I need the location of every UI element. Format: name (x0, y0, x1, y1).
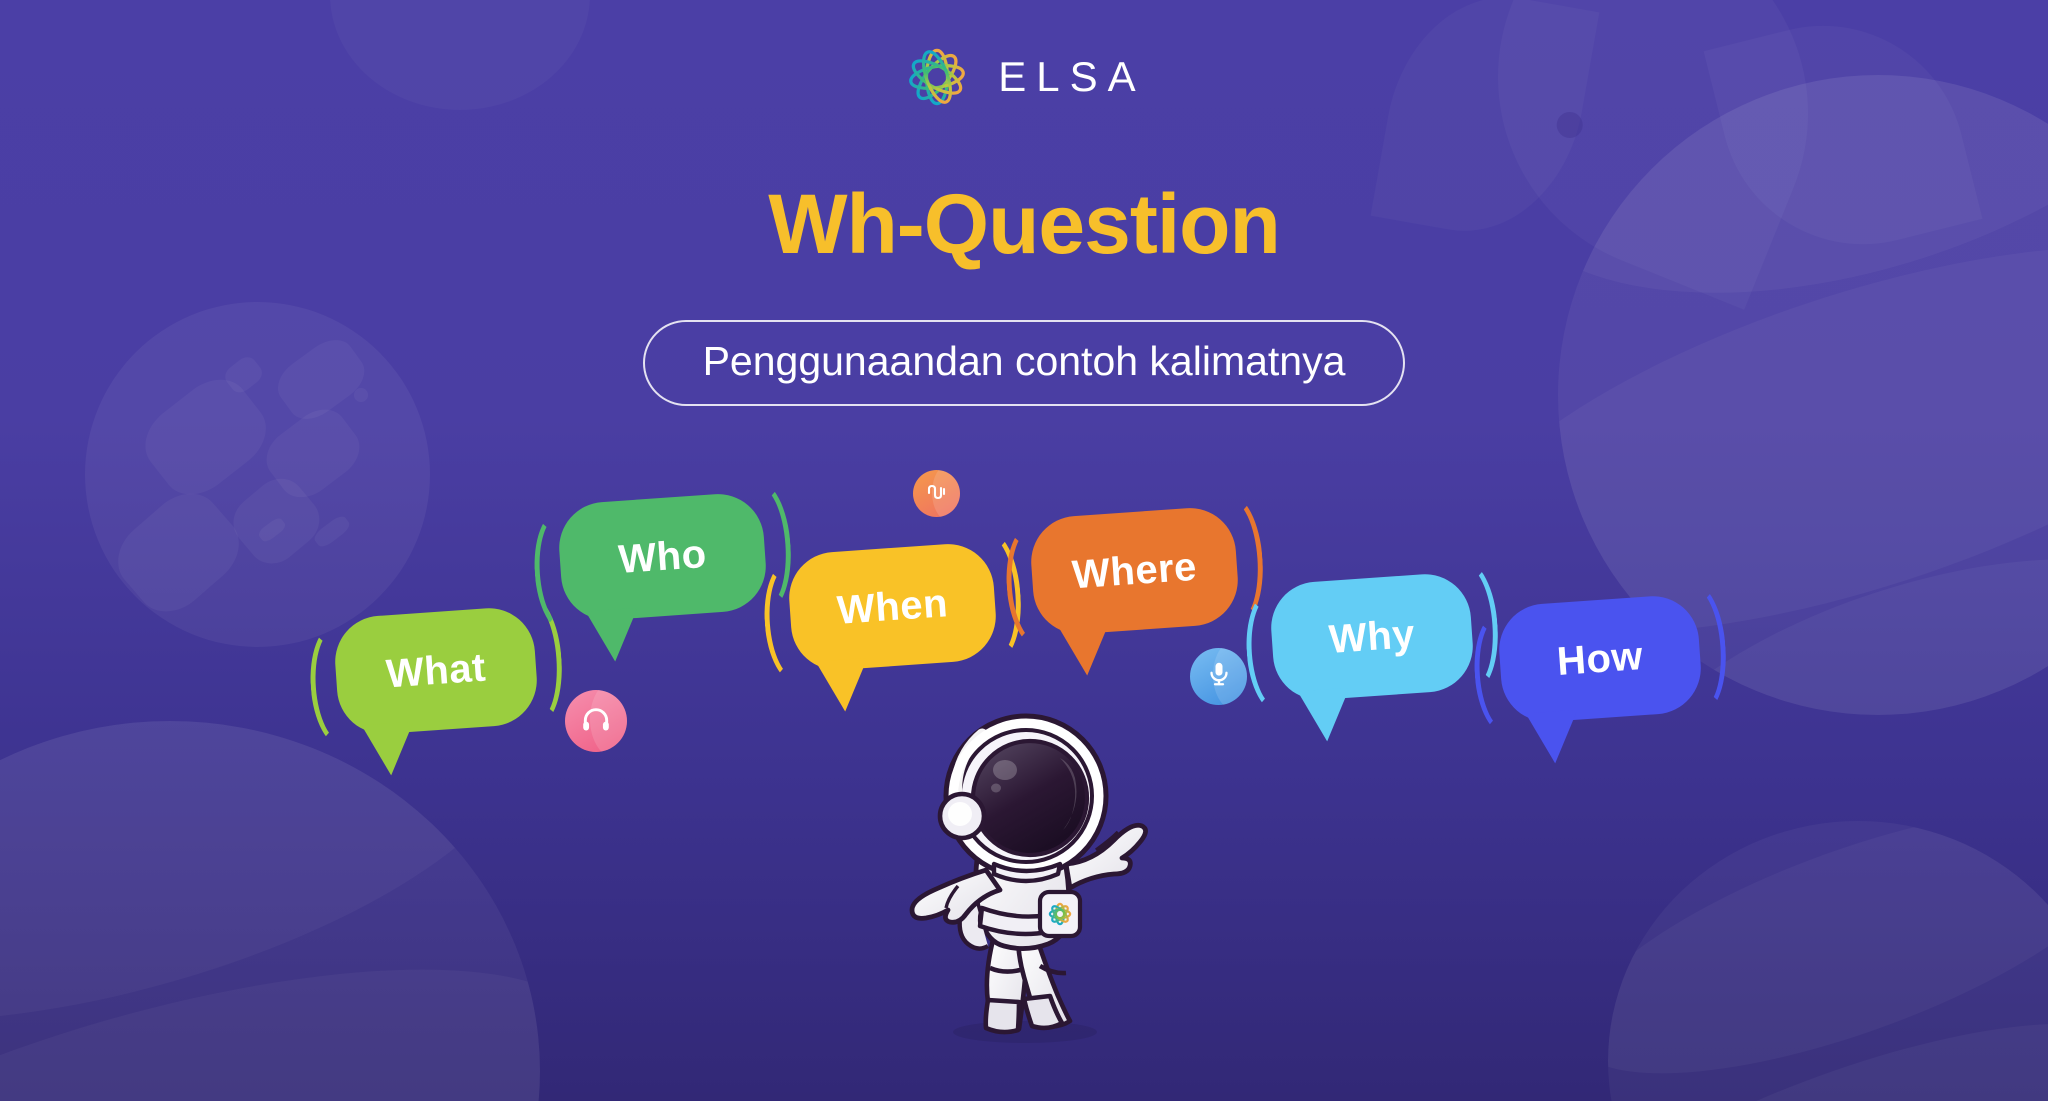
bubble-tail (586, 608, 642, 664)
astronaut-shadow (953, 1021, 1097, 1043)
headphone-badge[interactable] (565, 690, 627, 752)
bubble-tail (362, 722, 418, 778)
bubble-echo-right (1202, 493, 1267, 627)
bubble-label: When (836, 581, 950, 634)
bubble-echo-right (1665, 581, 1730, 715)
bubble-label: How (1556, 634, 1645, 685)
bubble-tail (1058, 622, 1114, 678)
bubble-tail (1526, 710, 1582, 766)
speech-bubble-who[interactable]: Who (556, 491, 769, 623)
bubble-echo-right (501, 593, 566, 727)
bubble-label: What (385, 645, 488, 697)
bubble-tail (1298, 688, 1354, 744)
bubble-label: Why (1328, 612, 1417, 663)
bubble-label: Who (617, 531, 708, 582)
speech-bubble-where[interactable]: Where (1028, 505, 1241, 637)
waveform-badge[interactable] (913, 470, 960, 517)
speech-bubble-what[interactable]: What (332, 605, 540, 737)
poster-canvas: ELSA Wh-Question Penggunaandan contoh ka… (0, 0, 2048, 1101)
bubble-echo-right (730, 479, 795, 613)
speech-bubble-why[interactable]: Why (1268, 571, 1476, 703)
speech-bubble-when[interactable]: When (786, 541, 999, 673)
bubble-label: Where (1071, 544, 1199, 598)
speech-bubble-how[interactable]: How (1496, 593, 1704, 725)
astronaut-visor (973, 741, 1087, 855)
astronaut-chest-panel (1040, 892, 1080, 936)
microphone-badge[interactable] (1190, 648, 1247, 705)
headphone-icon (580, 703, 612, 740)
astronaut-mascot (890, 700, 1160, 1045)
bubble-tail (816, 658, 872, 714)
bubble-echo-right (1437, 559, 1502, 693)
bubble-echo-right (960, 529, 1025, 663)
